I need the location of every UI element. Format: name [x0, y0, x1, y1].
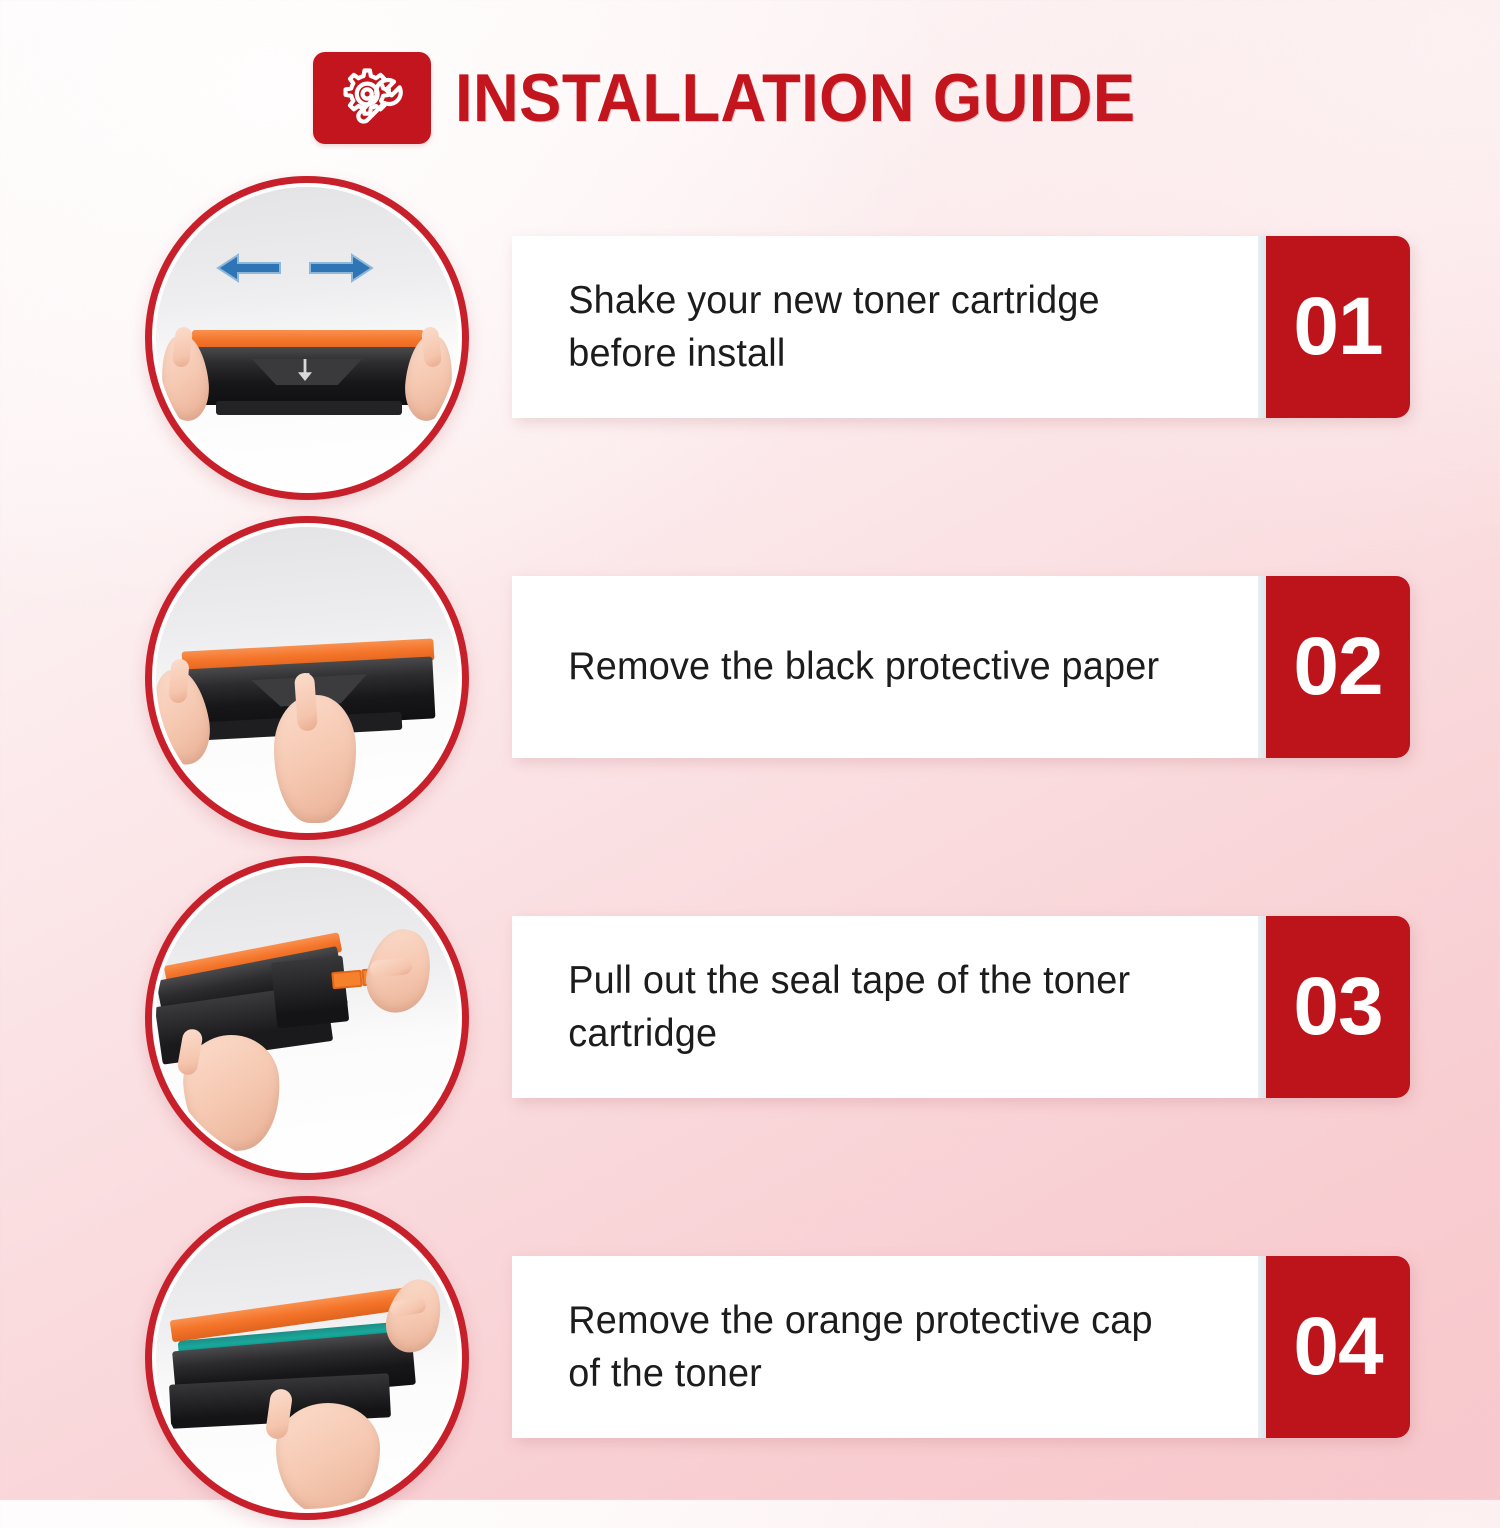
- step-card: Shake your new toner cartridge before in…: [512, 236, 1410, 418]
- step-photo-3: [145, 856, 469, 1180]
- step-photo-1: [145, 176, 469, 500]
- gear-wrench-icon: [331, 65, 413, 131]
- step-card-body: Remove the orange protective cap of the …: [512, 1256, 1258, 1438]
- card-separator: [1258, 576, 1266, 758]
- arrow-left-icon: [214, 253, 284, 283]
- step-card: Pull out the seal tape of the toner cart…: [512, 916, 1410, 1098]
- arrow-right-icon: [306, 253, 376, 283]
- step-card-body: Remove the black protective paper: [512, 576, 1258, 758]
- step-card: Remove the black protective paper 02: [512, 576, 1410, 758]
- step-text: Remove the orange protective cap of the …: [512, 1294, 1236, 1400]
- page-title: INSTALLATION GUIDE: [455, 64, 1136, 132]
- card-separator: [1258, 236, 1266, 418]
- card-separator: [1258, 1256, 1266, 1438]
- step-text: Shake your new toner cartridge before in…: [512, 274, 1236, 380]
- step-card: Remove the orange protective cap of the …: [512, 1256, 1410, 1438]
- step-row: Remove the orange protective cap of the …: [0, 1188, 1500, 1528]
- step-photo-4: [145, 1196, 469, 1520]
- step-text: Remove the black protective paper: [512, 640, 1202, 693]
- steps-list: Shake your new toner cartridge before in…: [0, 168, 1500, 1528]
- step-number-badge: 02: [1266, 576, 1410, 758]
- step-number-badge: 03: [1266, 916, 1410, 1098]
- header: INSTALLATION GUIDE: [0, 52, 1500, 144]
- step-row: Pull out the seal tape of the toner cart…: [0, 848, 1500, 1188]
- step-row: Shake your new toner cartridge before in…: [0, 168, 1500, 508]
- installation-guide-page: INSTALLATION GUIDE: [0, 0, 1500, 1500]
- gear-wrench-badge: [313, 52, 431, 144]
- step-card-body: Shake your new toner cartridge before in…: [512, 236, 1258, 418]
- step-row: Remove the black protective paper 02: [0, 508, 1500, 848]
- step-text: Pull out the seal tape of the toner cart…: [512, 954, 1236, 1060]
- card-separator: [1258, 916, 1266, 1098]
- step-number-badge: 04: [1266, 1256, 1410, 1438]
- step-photo-2: [145, 516, 469, 840]
- step-card-body: Pull out the seal tape of the toner cart…: [512, 916, 1258, 1098]
- step-number-badge: 01: [1266, 236, 1410, 418]
